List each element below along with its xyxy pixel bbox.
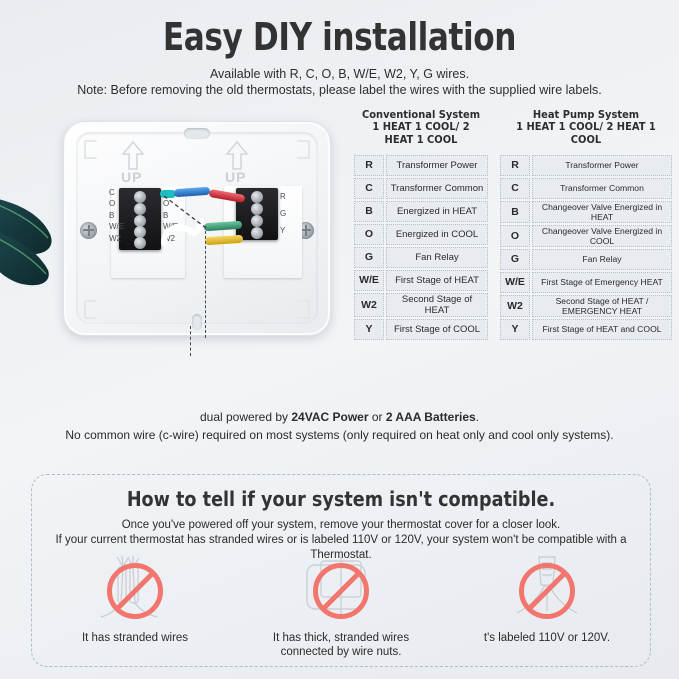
plant-leaf-decoration (0, 194, 64, 289)
heat-pump-system-table: Heat Pump System 1 HEAT 1 COOL/ 2 HEAT 1… (498, 109, 674, 342)
wire-key: B (500, 201, 530, 223)
table-row: BEnergized in HEAT (354, 201, 488, 222)
example-wire-nuts: It has thick, stranded wires connected b… (238, 555, 444, 659)
wire-desc: Transformer Common (532, 178, 672, 199)
power-notes: dual powered by 24VAC Power or 2 AAA Bat… (0, 410, 679, 442)
wire-desc: First Stage of HEAT (386, 270, 488, 291)
wire-key: Y (500, 319, 530, 340)
conventional-system-table: Conventional System 1 HEAT 1 COOL/ 2 HEA… (352, 109, 490, 342)
up-label-left: UP (121, 169, 142, 185)
wire-desc: Second Stage of HEAT / EMERGENCY HEAT (532, 295, 672, 317)
mounting-clip-bottom-right (297, 300, 310, 319)
table-row: BChangeover Valve Energized in HEAT (500, 201, 672, 223)
wire-desc: First Stage of Emergency HEAT (532, 272, 672, 293)
wire-desc: Transformer Power (532, 155, 672, 176)
prohibited-icon (519, 563, 575, 619)
baseplate-bottom-slot (192, 314, 202, 330)
header-subtitle-2: Note: Before removing the old thermostat… (0, 83, 679, 97)
note-prefix: dual powered by (200, 410, 291, 424)
example-stranded-wires: It has stranded wires (32, 555, 238, 659)
thermostat-baseplate-photo: UP UP (55, 114, 345, 354)
baseplate-top-slot (184, 128, 210, 139)
wire-key: W2 (500, 295, 530, 317)
page-title: Easy DIY installation (61, 18, 618, 58)
wire-key: W/E (354, 270, 384, 291)
wire-key: W2 (354, 293, 384, 317)
wire-key: R (354, 155, 384, 176)
wire-desc: Fan Relay (532, 249, 672, 270)
table-row: YFirst Stage of HEAT and COOL (500, 319, 672, 340)
wire-key: Y (354, 319, 384, 340)
table-row: W/EFirst Stage of Emergency HEAT (500, 272, 672, 293)
mounting-clip-bottom-left (84, 300, 97, 319)
table-row: W2Second Stage of HEAT (354, 293, 488, 317)
compatibility-panel: How to tell if your system isn't compati… (31, 474, 651, 667)
prohibited-icon (107, 563, 163, 619)
note-bold-batteries: 2 AAA Batteries (386, 410, 476, 424)
left-terminal-labels-outer: C O B W/E W2 (109, 187, 124, 245)
wire-nuts-illustration (238, 555, 444, 627)
wire-desc: Transformer Common (386, 178, 488, 199)
wire-desc: First Stage of COOL (386, 319, 488, 340)
mounting-clip-top-left (84, 140, 97, 159)
baseplate-outer-shell: UP UP (63, 121, 331, 336)
wire-key: R (500, 155, 530, 176)
power-note-line: dual powered by 24VAC Power or 2 AAA Bat… (0, 410, 679, 424)
table-row: RTransformer Power (354, 155, 488, 176)
example-caption: t's labeled 110V or 120V. (444, 631, 650, 645)
compatibility-subtext-line1: Once you've powered off your system, rem… (32, 518, 650, 533)
wire-key: B (354, 201, 384, 222)
table-row: OEnergized in COOL (354, 224, 488, 245)
table-row: GFan Relay (500, 249, 672, 270)
wire-key: G (354, 247, 384, 268)
right-terminal-labels: R G Y (280, 188, 286, 239)
wire-key: C (500, 178, 530, 199)
heat-pump-table-header: Heat Pump System 1 HEAT 1 COOL/ 2 HEAT 1… (498, 109, 674, 146)
conventional-table-header: Conventional System 1 HEAT 1 COOL/ 2 HEA… (352, 109, 490, 146)
wire-desc: First Stage of HEAT and COOL (532, 319, 672, 340)
up-arrow-left-icon (120, 140, 146, 170)
note-bold-24vac: 24VAC Power (291, 410, 368, 424)
mounting-clip-top-right (297, 140, 310, 159)
wire-key: O (354, 224, 384, 245)
wire-desc: Energized in COOL (386, 224, 488, 245)
note-mid: or (369, 410, 386, 424)
callout-dashed-vertical (205, 226, 206, 338)
note-suffix: . (476, 410, 479, 424)
table-row: CTransformer Common (500, 178, 672, 199)
wire-key: C (354, 178, 384, 199)
wire-desc: Fan Relay (386, 247, 488, 268)
table-row: YFirst Stage of COOL (354, 319, 488, 340)
table-row: W2Second Stage of HEAT / EMERGENCY HEAT (500, 295, 672, 317)
up-arrow-right-icon (224, 140, 250, 170)
page-header: Easy DIY installation Available with R, … (0, 0, 679, 97)
example-caption: It has thick, stranded wires connected b… (238, 631, 444, 659)
wire-key: G (500, 249, 530, 270)
example-caption: It has stranded wires (32, 631, 238, 645)
prohibited-icon (313, 563, 369, 619)
mounting-screw-left (80, 222, 97, 239)
callout-dashed-extension (190, 326, 191, 356)
diagram-and-tables-section: UP UP (0, 109, 679, 349)
wire-desc: Changeover Valve Energized in COOL (532, 225, 672, 247)
callout-dashed-diagonal (160, 192, 218, 232)
example-110v-120v: t's labeled 110V or 120V. (444, 555, 650, 659)
table-row: CTransformer Common (354, 178, 488, 199)
up-label-right: UP (225, 169, 246, 185)
wire-desc: Changeover Valve Energized in HEAT (532, 201, 672, 223)
high-voltage-illustration (444, 555, 650, 627)
header-subtitle-1: Available with R, C, O, B, W/E, W2, Y, G… (0, 67, 679, 81)
table-row: GFan Relay (354, 247, 488, 268)
table-row: RTransformer Power (500, 155, 672, 176)
incompatible-examples: It has stranded wires It has thick, stra… (32, 555, 650, 659)
wire-key: O (500, 225, 530, 247)
table-row: W/EFirst Stage of HEAT (354, 270, 488, 291)
wire-desc: Energized in HEAT (386, 201, 488, 222)
table-row: OChangeover Valve Energized in COOL (500, 225, 672, 247)
wire-desc: Second Stage of HEAT (386, 293, 488, 317)
left-terminal-block (119, 188, 161, 250)
c-wire-note: No common wire (c-wire) required on most… (0, 428, 679, 442)
wire-desc: Transformer Power (386, 155, 488, 176)
wire-key: W/E (500, 272, 530, 293)
stranded-wires-illustration (32, 555, 238, 627)
compatibility-title: How to tell if your system isn't compati… (69, 487, 613, 511)
